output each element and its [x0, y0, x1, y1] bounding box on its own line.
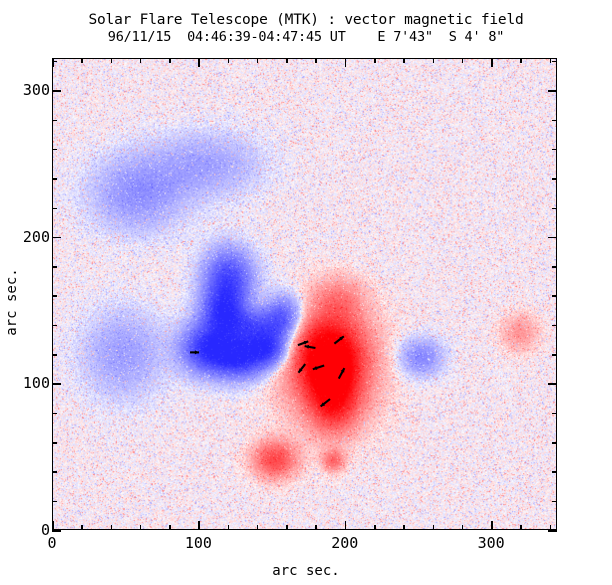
field-vector-arrow [321, 399, 330, 406]
x-axis-tick [257, 525, 259, 530]
field-vector-arrow [190, 350, 199, 354]
x-axis-tick [345, 521, 347, 530]
x-axis-tick [198, 58, 200, 67]
x-axis-tick [374, 525, 376, 530]
x-axis-tick [228, 58, 230, 63]
x-axis-tick [374, 58, 376, 63]
x-axis-tick [433, 525, 435, 530]
vector-field-overlay [53, 59, 556, 529]
y-axis-tick [52, 383, 61, 385]
x-tick-label: 300 [478, 534, 505, 552]
y-tick-label: 200 [23, 228, 50, 246]
field-vector-arrow [339, 368, 345, 379]
y-axis-tick [52, 295, 57, 297]
x-axis-tick [550, 58, 552, 63]
y-axis-tick [552, 61, 557, 63]
x-axis-tick [462, 58, 464, 63]
y-axis-tick [52, 471, 57, 473]
x-axis-tick [111, 58, 113, 63]
y-axis-tick [552, 501, 557, 503]
magnetogram-figure: Solar Flare Telescope (MTK) : vector mag… [0, 0, 612, 585]
y-axis-tick [552, 120, 557, 122]
x-axis-tick [345, 58, 347, 67]
x-axis-tick [169, 525, 171, 530]
x-axis-tick [286, 58, 288, 63]
x-axis-tick [315, 525, 317, 530]
figure-title: Solar Flare Telescope (MTK) : vector mag… [0, 13, 612, 28]
x-axis-tick [491, 58, 493, 67]
y-axis-tick [552, 442, 557, 444]
x-axis-tick [520, 58, 522, 63]
x-axis-tick [198, 521, 200, 530]
y-axis-tick [52, 325, 57, 327]
x-axis-tick [433, 58, 435, 63]
x-axis-title: arc sec. [0, 563, 612, 579]
x-axis-tick [52, 58, 54, 67]
x-tick-label: 100 [185, 534, 212, 552]
x-axis-tick [286, 525, 288, 530]
x-axis-tick [462, 525, 464, 530]
y-axis-tick [52, 530, 61, 532]
field-vector-arrow [305, 345, 316, 349]
y-axis-tick [552, 413, 557, 415]
y-axis-tick [52, 237, 61, 239]
y-tick-label: 100 [23, 374, 50, 392]
y-axis-tick [548, 383, 557, 385]
x-axis-tick [403, 525, 405, 530]
y-axis-tick [52, 90, 61, 92]
field-vector-arrow [334, 336, 343, 343]
x-axis-tick [257, 58, 259, 63]
y-axis-tick [552, 266, 557, 268]
y-axis-tick [548, 530, 557, 532]
magnetogram-plot-area [52, 58, 557, 530]
x-axis-tick [81, 525, 83, 530]
y-axis-tick [52, 149, 57, 151]
x-axis-tick [520, 525, 522, 530]
y-tick-label: 0 [41, 521, 50, 539]
x-axis-tick [228, 525, 230, 530]
x-axis-tick [169, 58, 171, 63]
x-axis-tick [52, 521, 54, 530]
y-axis-tick [548, 237, 557, 239]
y-axis-tick [52, 354, 57, 356]
y-axis-tick [52, 442, 57, 444]
y-axis-tick [52, 120, 57, 122]
y-axis-tick [552, 325, 557, 327]
y-axis-tick [552, 354, 557, 356]
field-vector-arrow [298, 364, 305, 373]
y-axis-tick [552, 471, 557, 473]
y-axis-tick [552, 295, 557, 297]
y-axis-tick [552, 149, 557, 151]
x-axis-tick [491, 521, 493, 530]
x-axis-tick [315, 58, 317, 63]
y-axis-tick [52, 208, 57, 210]
y-axis-tick [52, 413, 57, 415]
x-axis-tick [111, 525, 113, 530]
y-axis-tick [52, 61, 57, 63]
x-axis-tick [140, 525, 142, 530]
figure-subtitle: 96/11/15 04:46:39-04:47:45 UT E 7'43" S … [0, 31, 612, 45]
y-axis-tick [548, 90, 557, 92]
x-axis-tick [81, 58, 83, 63]
y-axis-tick [552, 178, 557, 180]
x-tick-label: 200 [331, 534, 358, 552]
x-axis-tick [140, 58, 142, 63]
y-axis-title: arc sec. [4, 262, 20, 342]
field-vector-arrow [313, 366, 324, 370]
x-axis-tick [403, 58, 405, 63]
y-tick-label: 300 [23, 81, 50, 99]
field-vector-arrow [298, 341, 308, 345]
y-axis-tick [52, 178, 57, 180]
y-axis-tick [52, 501, 57, 503]
y-axis-tick [52, 266, 57, 268]
y-axis-tick [552, 208, 557, 210]
